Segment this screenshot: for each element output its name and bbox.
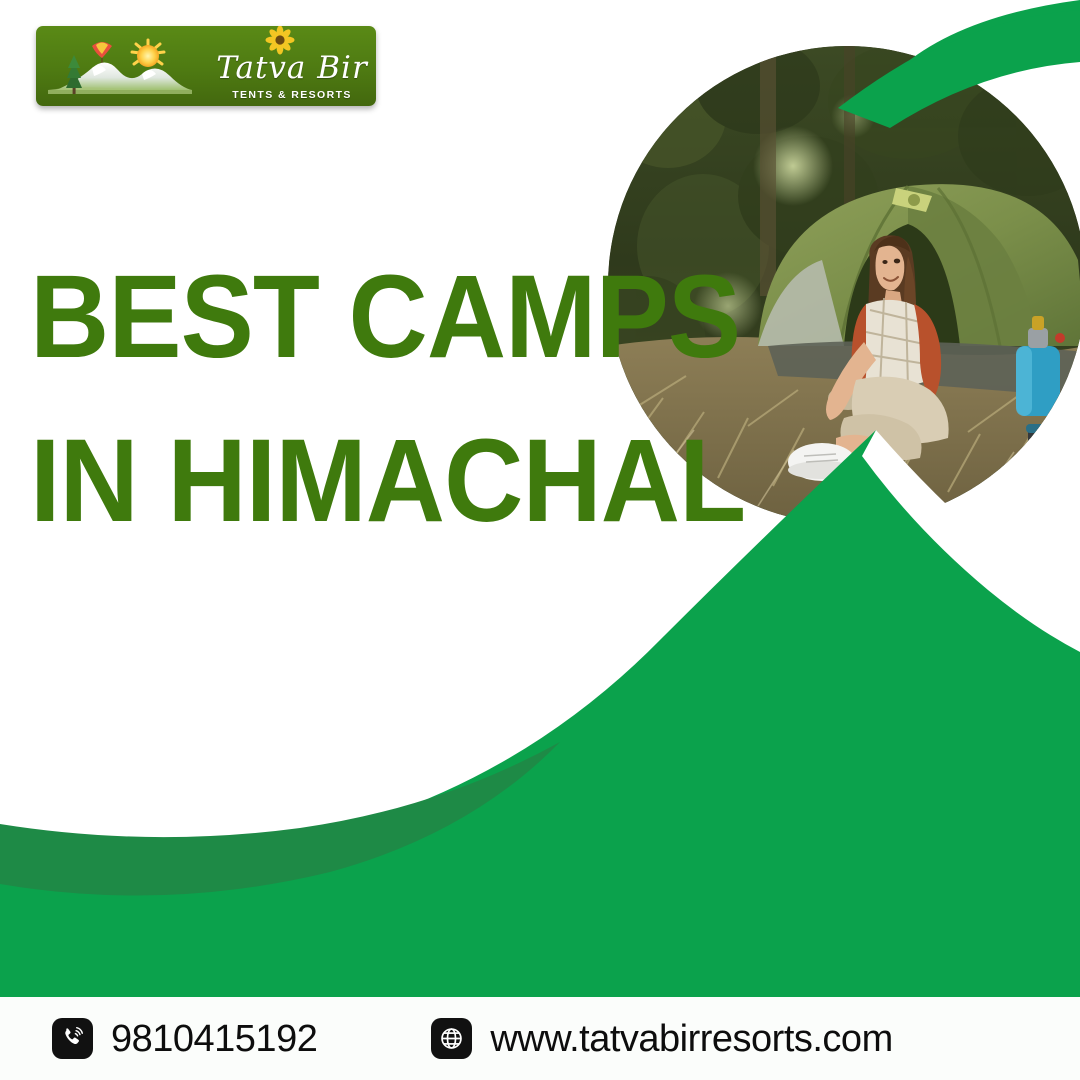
website-url: www.tatvabirresorts.com (490, 1020, 892, 1058)
logo-wordmark: Tatva Bir TENTS & RESORTS (212, 30, 372, 102)
phone-number: 9810415192 (111, 1020, 317, 1058)
poster-canvas: Tatva Bir TENTS & RESORTS BEST CAMPS IN … (0, 0, 1080, 1080)
logo[interactable]: Tatva Bir TENTS & RESORTS (36, 26, 376, 106)
contact-footer: 9810415192 www.tatvabirresorts.com (0, 997, 1080, 1080)
headline-line-2: IN HIMACHAL (30, 422, 551, 540)
headline-line-1: BEST CAMPS (30, 258, 551, 376)
phone-icon (52, 1018, 93, 1059)
phone-contact[interactable]: 9810415192 (52, 1018, 317, 1059)
sun-icon (132, 40, 164, 67)
logo-name: Tatva Bir (212, 48, 372, 88)
logo-tagline: TENTS & RESORTS (212, 89, 372, 101)
website-contact[interactable]: www.tatvabirresorts.com (431, 1018, 892, 1059)
globe-icon (431, 1018, 472, 1059)
page-title: BEST CAMPS IN HIMACHAL (30, 258, 590, 540)
